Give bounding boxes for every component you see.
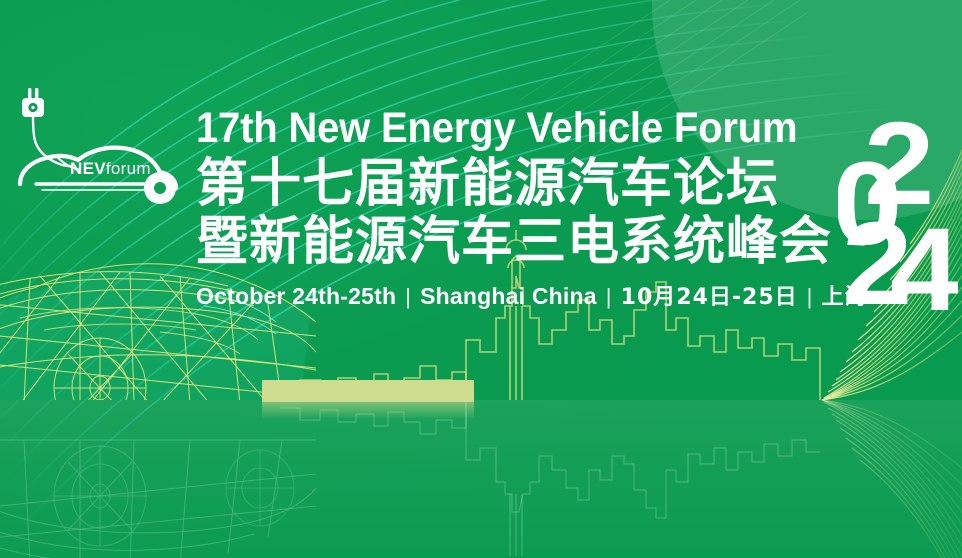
meta-city-cn: 上海 (822, 285, 868, 310)
meta-separator-2: | (597, 284, 621, 309)
meta-date-en: October 24th-25th (196, 283, 396, 309)
event-poster: NEVforum 2 0 2 4 17th New Energy Vehicle… (0, 0, 962, 558)
title-chinese-line2: 暨新能源汽车三电系统峰会 (196, 212, 846, 272)
year-digit-4: 4 (890, 204, 958, 316)
reflection-plane (0, 400, 962, 558)
nevforum-logo[interactable]: NEVforum (4, 76, 184, 216)
electric-car-logo-icon (4, 76, 184, 216)
title-english: 17th New Energy Vehicle Forum (196, 104, 801, 152)
meta-separator-3: | (798, 284, 822, 309)
accent-bar (262, 380, 474, 402)
title-block: 17th New Energy Vehicle Forum 第十七届新能源汽车论… (196, 104, 846, 312)
event-meta-line: October 24th-25th|Shanghai China|10月24日-… (196, 282, 846, 312)
meta-date-cn: 10月24日-25日 (621, 285, 798, 310)
title-chinese-line1: 第十七届新能源汽车论坛 (196, 154, 846, 214)
logo-wordmark: NEVforum (70, 159, 151, 179)
logo-word-forum: forum (106, 159, 151, 178)
accent-bar-reflection (262, 402, 474, 418)
meta-city-en: Shanghai China (420, 283, 597, 309)
logo-word-nev: NEV (70, 159, 106, 178)
meta-separator-1: | (396, 284, 420, 309)
